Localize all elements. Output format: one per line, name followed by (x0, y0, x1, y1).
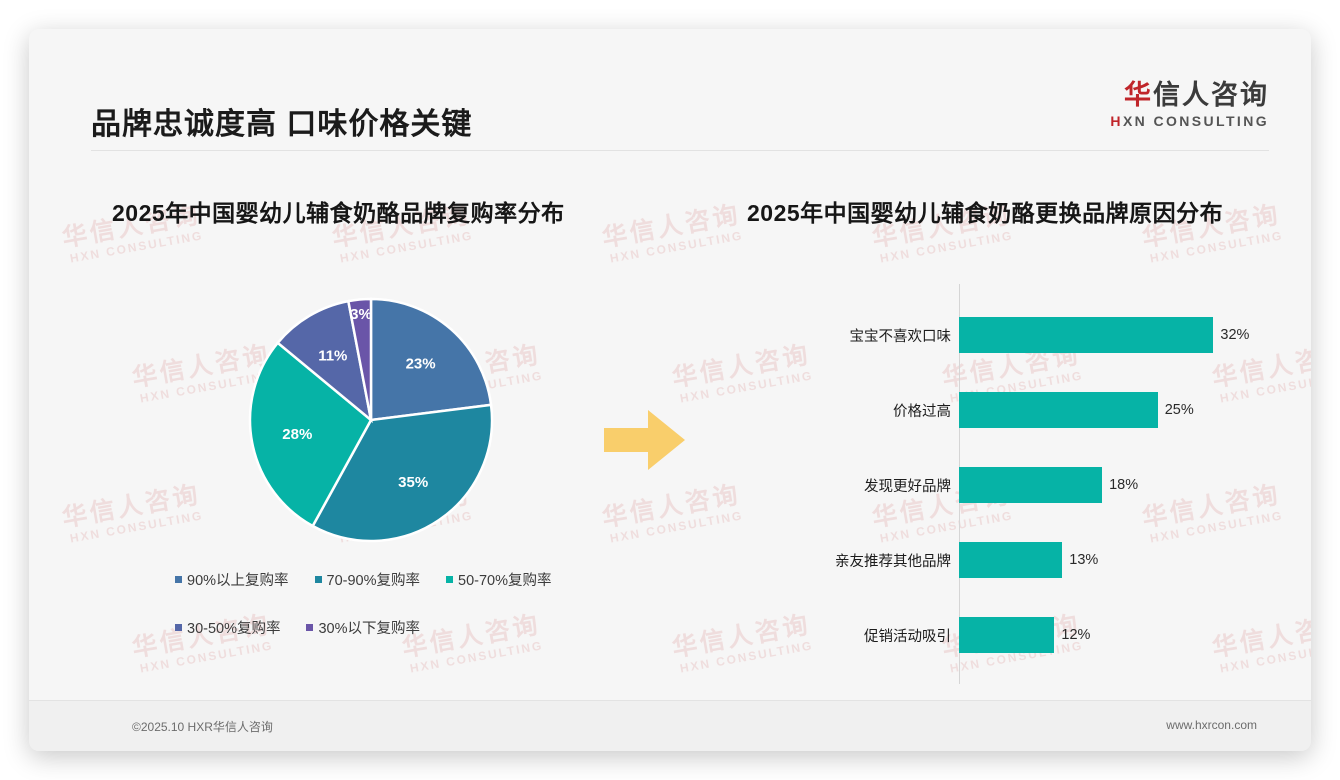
repurchase-pie-chart: 23%35%28%11%3% (247, 296, 495, 544)
bar-row: 亲友推荐其他品牌13% (809, 542, 1269, 578)
bar-category-label: 促销活动吸引 (809, 625, 959, 646)
bar-fill[interactable] (959, 617, 1054, 653)
bar-row: 发现更好品牌18% (809, 467, 1269, 503)
bar-value-label: 12% (1054, 627, 1090, 643)
footer-website: www.hxrcon.com (1166, 718, 1257, 732)
logo-chinese-rest: 信人咨询 (1153, 80, 1269, 110)
company-logo: 华信人咨询 HXN CONSULTING (1110, 81, 1269, 129)
footer-copyright: ©2025.10 HXR华信人咨询 (132, 718, 273, 735)
bar-track: 13% (959, 542, 1269, 578)
watermark-text: 华信人咨询HXN CONSULTING (669, 605, 815, 677)
logo-chinese: 华信人咨询 (1110, 81, 1269, 111)
pie-legend: 90%以上复购率70-90%复购率50-70%复购率30-50%复购率30%以下… (175, 569, 595, 665)
bar-track: 25% (959, 392, 1269, 428)
header-divider (91, 150, 1269, 151)
slide-footer: ©2025.10 HXR华信人咨询 www.hxrcon.com (29, 700, 1311, 751)
right-chart-title: 2025年中国婴幼儿辅食奶酪更换品牌原因分布 (747, 194, 1223, 228)
bar-row: 价格过高25% (809, 392, 1269, 428)
pie-legend-label: 50-70%复购率 (458, 569, 551, 590)
pie-svg: 23%35%28%11%3% (247, 296, 495, 544)
bar-value-label: 18% (1102, 477, 1138, 493)
bar-category-label: 价格过高 (809, 400, 959, 421)
pie-legend-item[interactable]: 50-70%复购率 (446, 569, 551, 590)
pie-slice-label: 28% (282, 426, 312, 443)
pie-slice-label: 11% (318, 347, 347, 364)
legend-swatch-icon (306, 624, 313, 631)
legend-swatch-icon (175, 576, 182, 583)
pie-slice-label: 35% (398, 474, 428, 491)
left-chart-title: 2025年中国婴幼儿辅食奶酪品牌复购率分布 (112, 194, 565, 228)
bar-category-label: 发现更好品牌 (809, 475, 959, 496)
pie-legend-label: 30%以下复购率 (318, 617, 420, 638)
bar-category-label: 亲友推荐其他品牌 (809, 550, 959, 571)
bar-value-label: 32% (1213, 327, 1249, 343)
bar-value-label: 13% (1062, 552, 1098, 568)
pie-legend-row: 30-50%复购率30%以下复购率 (175, 617, 595, 638)
pie-slice-label: 3% (350, 306, 372, 323)
slide-header: 品牌忠诚度高 口味价格关键 华信人咨询 HXN CONSULTING (29, 29, 1311, 125)
pie-legend-item[interactable]: 70-90%复购率 (315, 569, 420, 590)
pie-legend-item[interactable]: 30%以下复购率 (306, 617, 420, 638)
logo-english-rest: XN CONSULTING (1123, 113, 1269, 129)
pie-legend-item[interactable]: 90%以上复购率 (175, 569, 289, 590)
logo-chinese-accent: 华 (1124, 80, 1153, 110)
pie-legend-label: 90%以上复购率 (187, 569, 289, 590)
legend-swatch-icon (315, 576, 322, 583)
watermark-text: 华信人咨询HXN CONSULTING (59, 475, 205, 547)
bar-fill[interactable] (959, 392, 1158, 428)
bar-track: 32% (959, 317, 1269, 353)
right-arrow-icon (604, 407, 686, 478)
bar-row: 宝宝不喜欢口味32% (809, 317, 1269, 353)
watermark-text: 华信人咨询HXN CONSULTING (669, 335, 815, 407)
pie-legend-row: 90%以上复购率70-90%复购率50-70%复购率 (175, 569, 595, 590)
watermark-text: 华信人咨询HXN CONSULTING (599, 195, 745, 267)
bar-value-label: 25% (1158, 402, 1194, 418)
logo-english: HXN CONSULTING (1110, 113, 1269, 129)
slide-card: 华信人咨询HXN CONSULTING华信人咨询HXN CONSULTING华信… (29, 29, 1311, 751)
watermark-text: 华信人咨询HXN CONSULTING (599, 475, 745, 547)
bar-fill[interactable] (959, 467, 1102, 503)
pie-legend-label: 70-90%复购率 (327, 569, 420, 590)
legend-swatch-icon (175, 624, 182, 631)
pie-slice-label: 23% (406, 356, 436, 373)
bar-category-label: 宝宝不喜欢口味 (809, 325, 959, 346)
bar-fill[interactable] (959, 542, 1062, 578)
bar-track: 12% (959, 617, 1269, 653)
page-title: 品牌忠诚度高 口味价格关键 (91, 99, 472, 143)
pie-legend-label: 30-50%复购率 (187, 617, 280, 638)
bar-row: 促销活动吸引12% (809, 617, 1269, 653)
bar-track: 18% (959, 467, 1269, 503)
legend-swatch-icon (446, 576, 453, 583)
pie-legend-item[interactable]: 30-50%复购率 (175, 617, 280, 638)
switch-reason-bar-chart: 宝宝不喜欢口味32%价格过高25%发现更好品牌18%亲友推荐其他品牌13%促销活… (809, 284, 1269, 684)
bar-fill[interactable] (959, 317, 1213, 353)
logo-english-accent: H (1110, 113, 1123, 129)
